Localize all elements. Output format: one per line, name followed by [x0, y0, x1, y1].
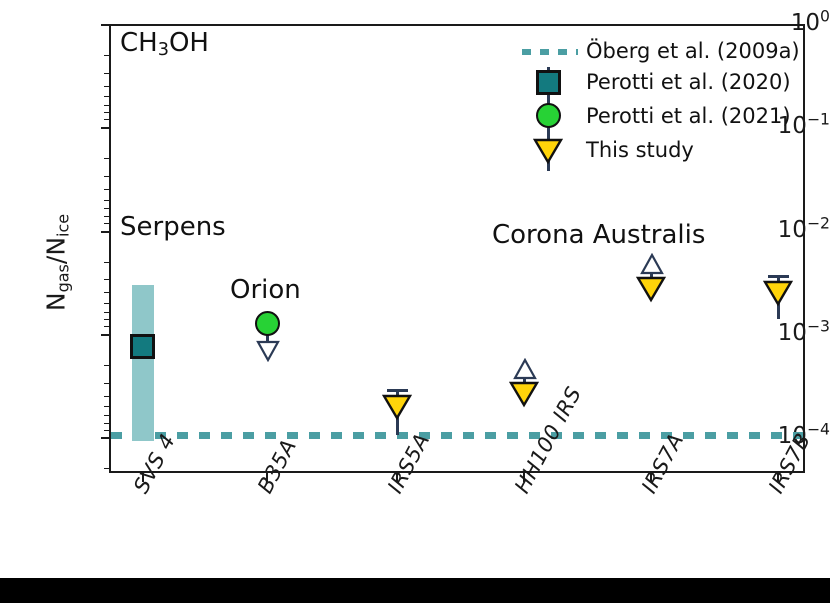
legend-item-this-study[interactable]: This study	[512, 135, 802, 166]
data-marker-square-svs4[interactable]	[130, 334, 155, 359]
arrow-up-open-hh100irs	[513, 358, 537, 380]
legend-label: Perotti et al. (2021)	[586, 103, 791, 129]
species-annotation: CH3OH	[120, 30, 209, 56]
legend-label: Öberg et al. (2009a)	[586, 38, 800, 64]
shaded-range-band-svs4	[132, 285, 154, 441]
arrow-down-open-b35a	[256, 340, 280, 362]
dotted-line-icon	[522, 49, 578, 55]
errorbar-cap-top-irs5a	[387, 389, 408, 392]
triangle-down-marker-icon	[531, 137, 565, 169]
y-axis-title: Ngas/Nice	[42, 163, 71, 363]
legend: Öberg et al. (2009a) Perotti et al. (202…	[512, 36, 802, 171]
legend-label: Perotti et al. (2020)	[586, 69, 791, 95]
legend-label: This study	[586, 137, 694, 163]
legend-item-oberg-2009a[interactable]: Öberg et al. (2009a)	[512, 36, 802, 67]
bottom-black-strip	[0, 578, 830, 603]
circle-marker-icon	[536, 103, 561, 128]
region-annotation-orion: Orion	[230, 277, 301, 303]
reference-line-oberg-2009a	[111, 432, 803, 439]
legend-item-perotti-2021[interactable]: Perotti et al. (2021)	[512, 101, 802, 132]
figure-canvas: 100 10−1 10−2 10−3 10−4	[0, 0, 830, 603]
arrow-up-open-irs7a	[640, 253, 664, 275]
region-annotation-corona-australis: Corona Australis	[492, 222, 705, 248]
legend-item-perotti-2020[interactable]: Perotti et al. (2020)	[512, 67, 802, 98]
data-marker-circle-b35a[interactable]	[255, 311, 280, 336]
region-annotation-serpens: Serpens	[120, 214, 226, 240]
square-marker-icon	[536, 70, 561, 95]
errorbar-cap-top-irs7b	[768, 275, 789, 278]
